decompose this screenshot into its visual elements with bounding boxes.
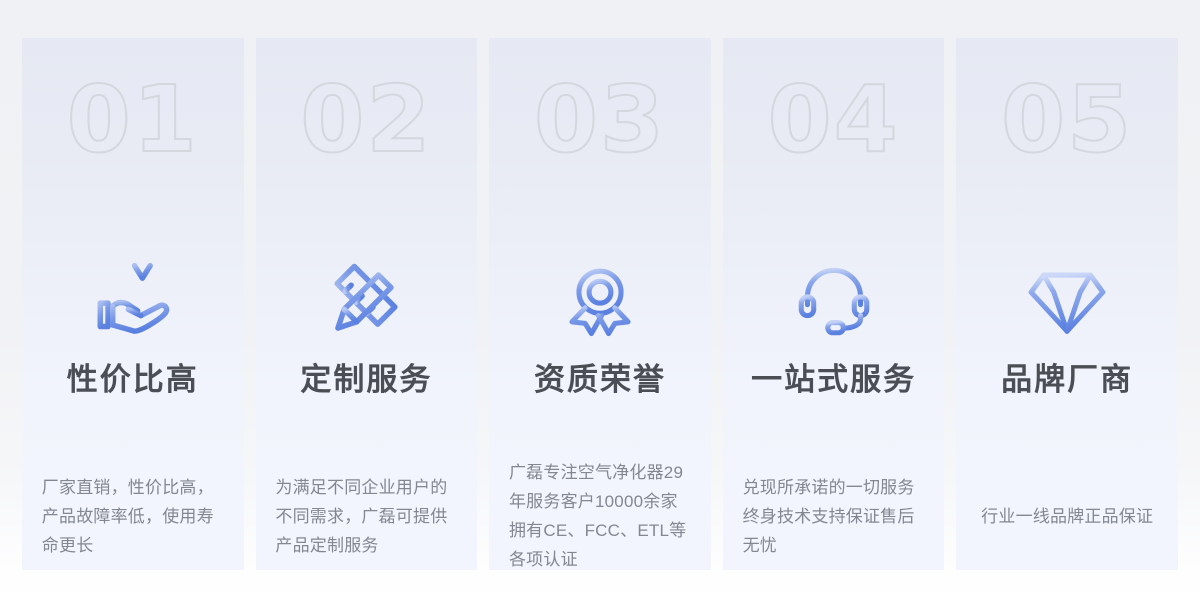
card-index-number: 03 [489, 74, 711, 166]
card-title: 性价比高 [22, 360, 244, 400]
feature-card-2[interactable]: 02 [256, 38, 478, 570]
card-description: 厂家直销，性价比高，产品故障率低，使用寿命更长 [42, 473, 224, 560]
card-title: 定制服务 [256, 360, 478, 400]
money-in-hand-icon [22, 260, 244, 340]
feature-highlights-section: 01 [0, 0, 1200, 600]
card-index-number: 02 [256, 74, 478, 166]
card-description: 兑现所承诺的一切服务终身技术支持保证售后无忧 [743, 473, 925, 560]
card-index-number: 04 [723, 74, 945, 166]
card-index-number: 01 [22, 74, 244, 166]
card-title: 一站式服务 [723, 360, 945, 400]
feature-card-list: 01 [22, 38, 1178, 570]
feature-card-3[interactable]: 03 [489, 38, 711, 570]
card-index-number: 05 [956, 74, 1178, 166]
card-description-area: 为满足不同企业用户的不同需求，广磊可提供产品定制服务 [256, 446, 478, 570]
card-description-area: 广磊专注空气净化器29年服务客户10000余家拥有CE、FCC、ETL等各项认证 [489, 446, 711, 570]
feature-card-5[interactable]: 05 [956, 38, 1178, 570]
diamond-icon [956, 260, 1178, 340]
headset-support-icon [723, 260, 945, 340]
card-description-area: 厂家直销，性价比高，产品故障率低，使用寿命更长 [22, 446, 244, 570]
card-description: 行业一线品牌正品保证 [956, 502, 1178, 531]
card-description-area: 兑现所承诺的一切服务终身技术支持保证售后无忧 [723, 446, 945, 570]
card-description: 广磊专注空气净化器29年服务客户10000余家拥有CE、FCC、ETL等各项认证 [509, 458, 691, 570]
card-title: 资质荣誉 [489, 360, 711, 400]
card-description: 为满足不同企业用户的不同需求，广磊可提供产品定制服务 [275, 473, 457, 560]
card-description-area: 行业一线品牌正品保证 [956, 446, 1178, 570]
card-title: 品牌厂商 [956, 360, 1178, 400]
feature-card-1[interactable]: 01 [22, 38, 244, 570]
award-ribbon-icon [489, 260, 711, 340]
feature-card-4[interactable]: 04 [723, 38, 945, 570]
pen-and-ruler-icon [256, 260, 478, 340]
